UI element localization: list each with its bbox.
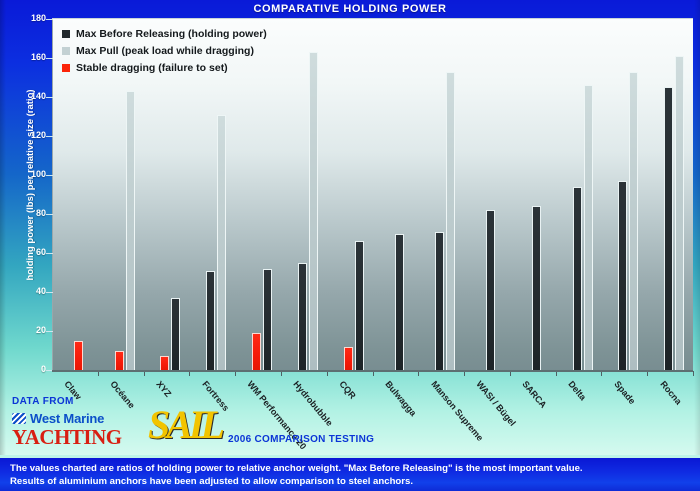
y-axis-title: holding power (lbs) per relative size (r… [25, 75, 39, 295]
legend-label: Max Pull (peak load while dragging) [76, 45, 254, 57]
sail-logo: SAIL [148, 403, 222, 449]
bar-red [344, 347, 353, 370]
bar-red [74, 341, 83, 370]
chart-legend: Max Before Releasing (holding power)Max … [62, 26, 267, 77]
legend-item: Max Pull (peak load while dragging) [62, 43, 267, 58]
bar-dark [206, 271, 215, 370]
bar-gray [126, 91, 135, 370]
legend-item: Stable dragging (failure to set) [62, 60, 267, 75]
bar-dark [618, 181, 627, 370]
dark-swatch-icon [62, 30, 70, 38]
legend-label: Stable dragging (failure to set) [76, 62, 228, 74]
y-tick-label: 140 [6, 91, 46, 101]
gray-swatch-icon [62, 47, 70, 55]
west-marine-label: West Marine [30, 411, 104, 426]
chart-caption: The values charted are ratios of holding… [0, 458, 700, 491]
yachting-label: YACHTING [12, 427, 122, 447]
bar-dark [573, 187, 582, 370]
bar-gray [584, 85, 593, 370]
y-tick-label: 0 [6, 364, 46, 374]
bar-red [160, 356, 169, 370]
data-credits: DATA FROM West Marine YACHTING MONTHLY [12, 396, 122, 447]
y-tick-label: 80 [6, 208, 46, 218]
y-tick-label: 100 [6, 169, 46, 179]
y-tick-label: 160 [6, 52, 46, 62]
y-tick-label: 40 [6, 286, 46, 296]
chart-title: COMPARATIVE HOLDING POWER [0, 1, 700, 18]
bar-red [115, 351, 124, 371]
comparison-year-label: 2006 COMPARISON TESTING [228, 434, 374, 445]
red-swatch-icon [62, 64, 70, 72]
yachting-monthly-credit: YACHTING [12, 427, 122, 447]
chart-screenshot: COMPARATIVE HOLDING POWER holding power … [0, 0, 700, 491]
bar-dark [532, 206, 541, 370]
y-tick-label: 20 [6, 325, 46, 335]
data-from-label: DATA FROM [12, 396, 122, 407]
bar-dark [664, 87, 673, 370]
x-axis-line [52, 370, 693, 372]
y-tick-label: 120 [6, 130, 46, 140]
bar-gray [446, 72, 455, 370]
legend-label: Max Before Releasing (holding power) [76, 28, 267, 40]
x-tick [693, 371, 694, 376]
bar-dark [263, 269, 272, 370]
bar-gray [629, 72, 638, 370]
bar-dark [171, 298, 180, 370]
bar-dark [486, 210, 495, 370]
bar-dark [395, 234, 404, 371]
caption-line-2: Results of aluminium anchors have been a… [10, 476, 690, 489]
caption-line-1: The values charted are ratios of holding… [10, 463, 690, 476]
bar-gray [675, 56, 684, 370]
bar-gray [217, 115, 226, 370]
bar-dark [355, 241, 364, 370]
bar-dark [298, 263, 307, 370]
legend-item: Max Before Releasing (holding power) [62, 26, 267, 41]
y-tick-label: 180 [6, 13, 46, 23]
bar-dark [435, 232, 444, 370]
west-marine-logo-icon [12, 413, 26, 424]
west-marine-credit: West Marine [12, 411, 122, 426]
bar-red [252, 333, 261, 370]
y-tick-label: 60 [6, 247, 46, 257]
bar-gray [309, 52, 318, 370]
